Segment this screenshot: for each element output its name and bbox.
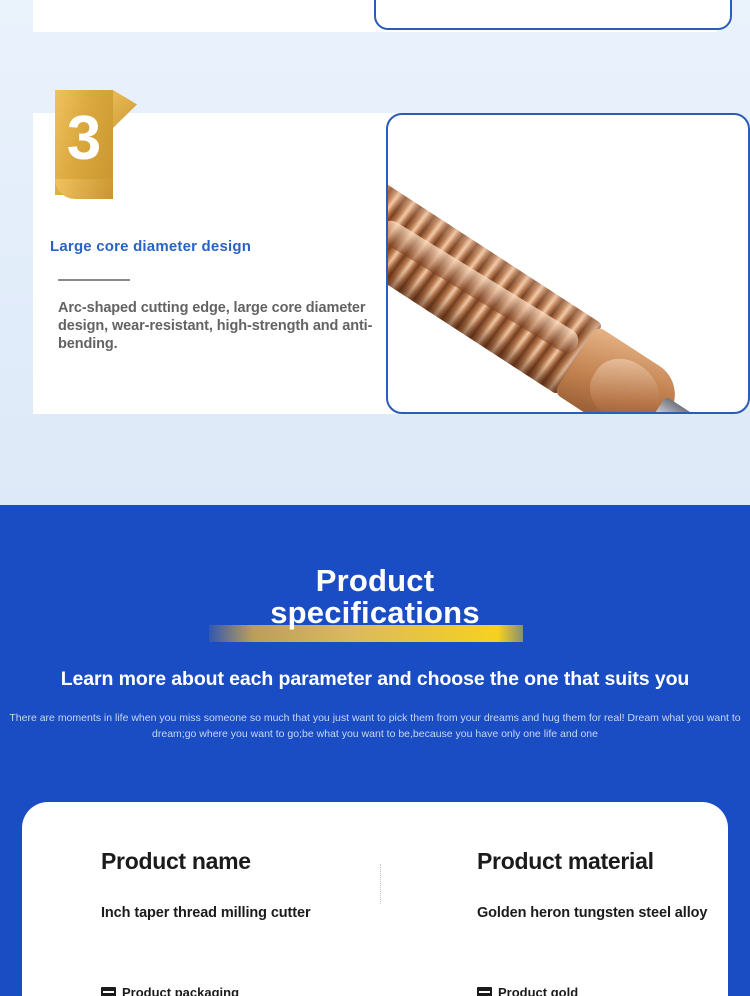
specifications-subtitle: Learn more about each parameter and choo…: [0, 668, 750, 691]
column-divider: [380, 864, 381, 904]
feature-description: Arc-shaped cutting edge, large core diam…: [50, 299, 380, 353]
specifications-section: Product specifications Learn more about …: [0, 505, 750, 996]
list-icon: [477, 987, 492, 996]
grey-drill-bit-photo: [374, 0, 732, 30]
spec-heading: Product name: [101, 848, 401, 875]
spec-column-product-name: Product name Inch taper thread milling c…: [101, 848, 401, 921]
spec-value: Inch taper thread milling cutter: [101, 905, 401, 921]
specifications-heading: Product specifications: [0, 565, 750, 629]
spec-extra-row-right: Product gold: [477, 985, 578, 996]
feature-card-3: Large core diameter design Arc-shaped cu…: [33, 113, 717, 414]
specifications-title-line1: Product: [0, 565, 750, 597]
copper-thread-milling-cutter-photo: [386, 113, 750, 414]
feature-card-3-body: Large core diameter design Arc-shaped cu…: [50, 238, 380, 353]
specifications-title-line2: specifications: [0, 597, 750, 629]
divider-rule: [58, 279, 130, 281]
spec-column-product-material: Product material Golden heron tungsten s…: [477, 848, 750, 921]
badge-number: 3: [55, 108, 113, 170]
specifications-lorem-text: There are moments in life when you miss …: [0, 710, 750, 742]
spec-value: Golden heron tungsten steel alloy: [477, 905, 750, 921]
step-badge-3: 3: [55, 90, 135, 195]
spec-extra-row-left: Product packaging: [101, 985, 239, 996]
features-section: 精研制造高品质系列产品 Large core diameter design A…: [0, 0, 750, 505]
specifications-card: Product name Inch taper thread milling c…: [22, 802, 728, 996]
cutter-illustration: [386, 113, 750, 414]
badge-ribbon-tail: [55, 179, 113, 199]
spec-heading: Product material: [477, 848, 750, 875]
tag-icon: [101, 987, 116, 996]
spec-extra-label: Product gold: [498, 985, 578, 996]
feature-title: Large core diameter design: [50, 238, 380, 255]
badge-ribbon-fold: [113, 90, 137, 128]
spec-extra-label: Product packaging: [122, 985, 239, 996]
